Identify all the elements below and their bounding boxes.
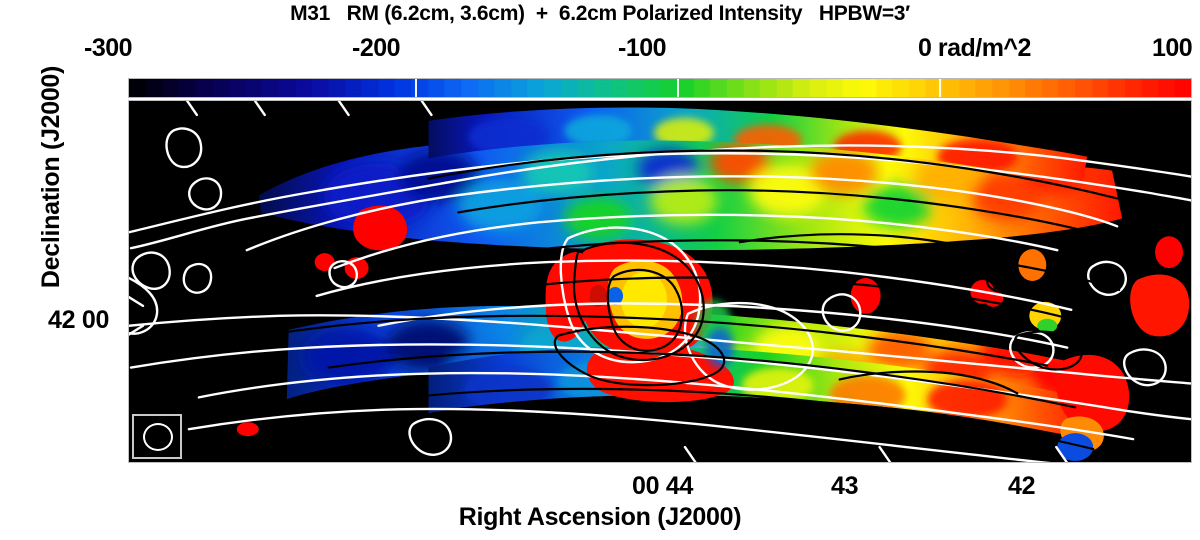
- sky-map-image: [128, 100, 1192, 463]
- colorbar-tick-0: -300: [84, 34, 132, 63]
- colorbar-mark-1: [415, 79, 417, 97]
- colorbar-tick-4: 100: [1152, 34, 1192, 63]
- x-axis-tick-43: 43: [831, 472, 858, 501]
- colorbar-mark-3: [939, 79, 941, 97]
- beam-ellipse-icon: [143, 423, 173, 451]
- colorbar-mark-2: [677, 79, 679, 97]
- map-canvas: [129, 101, 1191, 462]
- y-axis-label: Declination (J2000): [37, 0, 67, 357]
- colorbar-tick-1: -200: [352, 34, 400, 63]
- x-axis-tick-42: 42: [1008, 472, 1035, 501]
- page-title: M31 RM (6.2cm, 3.6cm) + 6.2cm Polarized …: [0, 0, 1200, 30]
- beam-box: [132, 414, 182, 459]
- x-axis-tick-0044: 00 44: [632, 472, 693, 501]
- x-axis-label: Right Ascension (J2000): [0, 503, 1200, 532]
- colorbar: [128, 78, 1192, 98]
- colorbar-tick-2: -100: [618, 34, 666, 63]
- figure-root: M31 RM (6.2cm, 3.6cm) + 6.2cm Polarized …: [0, 0, 1200, 540]
- colorbar-tick-3: 0 rad/m^2: [918, 34, 1031, 63]
- colorbar-tick-labels: -300 -200 -100 0 rad/m^2 100: [0, 34, 1200, 68]
- colorbar-gradient: [129, 79, 1191, 97]
- y-axis-tick-4200: 42 00: [48, 306, 109, 335]
